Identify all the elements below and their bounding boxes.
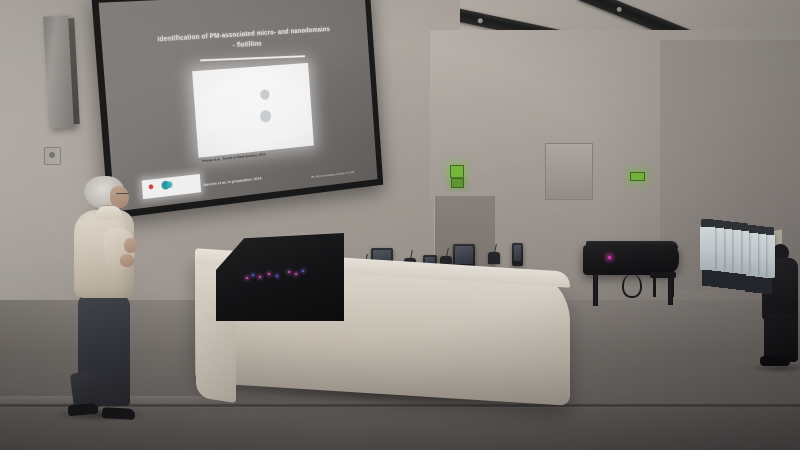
wall-speaker-icon	[43, 15, 75, 128]
chair-leg	[711, 271, 721, 287]
lecture-hall-photo: Identification of PM-associated micro- a…	[0, 0, 800, 450]
monitor-screen	[514, 245, 521, 261]
presenter-hand	[120, 254, 134, 267]
glasses-icon	[116, 193, 129, 198]
piano-indicator-light-icon	[608, 256, 611, 259]
logo-teal-dot-icon	[166, 181, 173, 189]
piano-leg	[593, 274, 598, 306]
desk-monitor[interactable]	[512, 243, 523, 266]
slide-title: Identification of PM-associated micro- a…	[156, 23, 332, 55]
slide-citation-corner: PM, GM, Anna meeting, October 17, 2018	[311, 171, 354, 179]
figure-blob-icon	[260, 89, 270, 100]
chair-leg	[728, 273, 738, 289]
chair-leg	[736, 274, 746, 290]
presenter-collar	[96, 206, 122, 219]
slide-title-rule	[200, 55, 305, 61]
wall-panel	[545, 143, 593, 200]
presenter-shoe	[102, 407, 136, 420]
walker-shoe	[760, 356, 790, 366]
monitor-screen	[455, 246, 473, 264]
wall-plate-icon	[44, 147, 61, 165]
slide-figure	[192, 62, 313, 157]
presenter-shoe	[68, 403, 99, 417]
presenter	[62, 176, 154, 422]
chair-leg	[753, 277, 763, 293]
chair-leg	[745, 276, 755, 292]
chair-leg	[702, 270, 712, 286]
presenter-hand	[124, 238, 137, 253]
exit-sign-icon	[630, 172, 645, 181]
chair-back-top	[701, 219, 714, 227]
stacked-chair	[700, 226, 715, 270]
figure-blob-icon	[259, 109, 271, 122]
grand-piano	[583, 245, 679, 275]
chair-leg	[762, 278, 772, 294]
desk-microphone-icon	[488, 252, 500, 264]
piano-pedal-lyre	[622, 274, 642, 298]
exit-sign-icon	[450, 165, 464, 178]
walker-legs	[764, 314, 798, 362]
bench-leg	[671, 277, 674, 297]
chair-leg	[719, 272, 729, 288]
bench-leg	[653, 277, 656, 297]
slide-citation-main: Daniels et al, in preparation, 2018	[204, 176, 262, 188]
exit-sign-icon	[451, 178, 464, 188]
